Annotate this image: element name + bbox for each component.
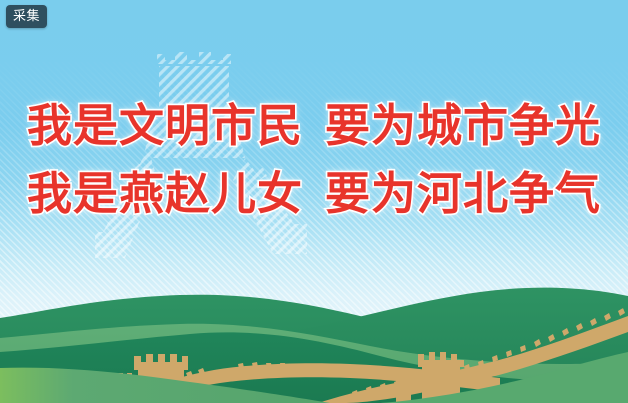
slogan-line-1-left: 我是文明市民	[27, 99, 303, 152]
slogan-line-2: 我是燕赵儿女要为河北争气	[0, 160, 628, 228]
slogan-line-1-right: 要为城市争光	[325, 99, 601, 152]
banner-screenshot: 我是文明市民要为城市争光 我是燕赵儿女要为河北争气 采集	[0, 0, 628, 403]
capture-button[interactable]: 采集	[6, 5, 47, 28]
slogan-line-2-right: 要为河北争气	[325, 167, 601, 220]
slogan-text-block: 我是文明市民要为城市争光 我是燕赵儿女要为河北争气	[0, 92, 628, 228]
slogan-line-1: 我是文明市民要为城市争光	[0, 92, 628, 160]
slogan-line-2-left: 我是燕赵儿女	[27, 167, 303, 220]
